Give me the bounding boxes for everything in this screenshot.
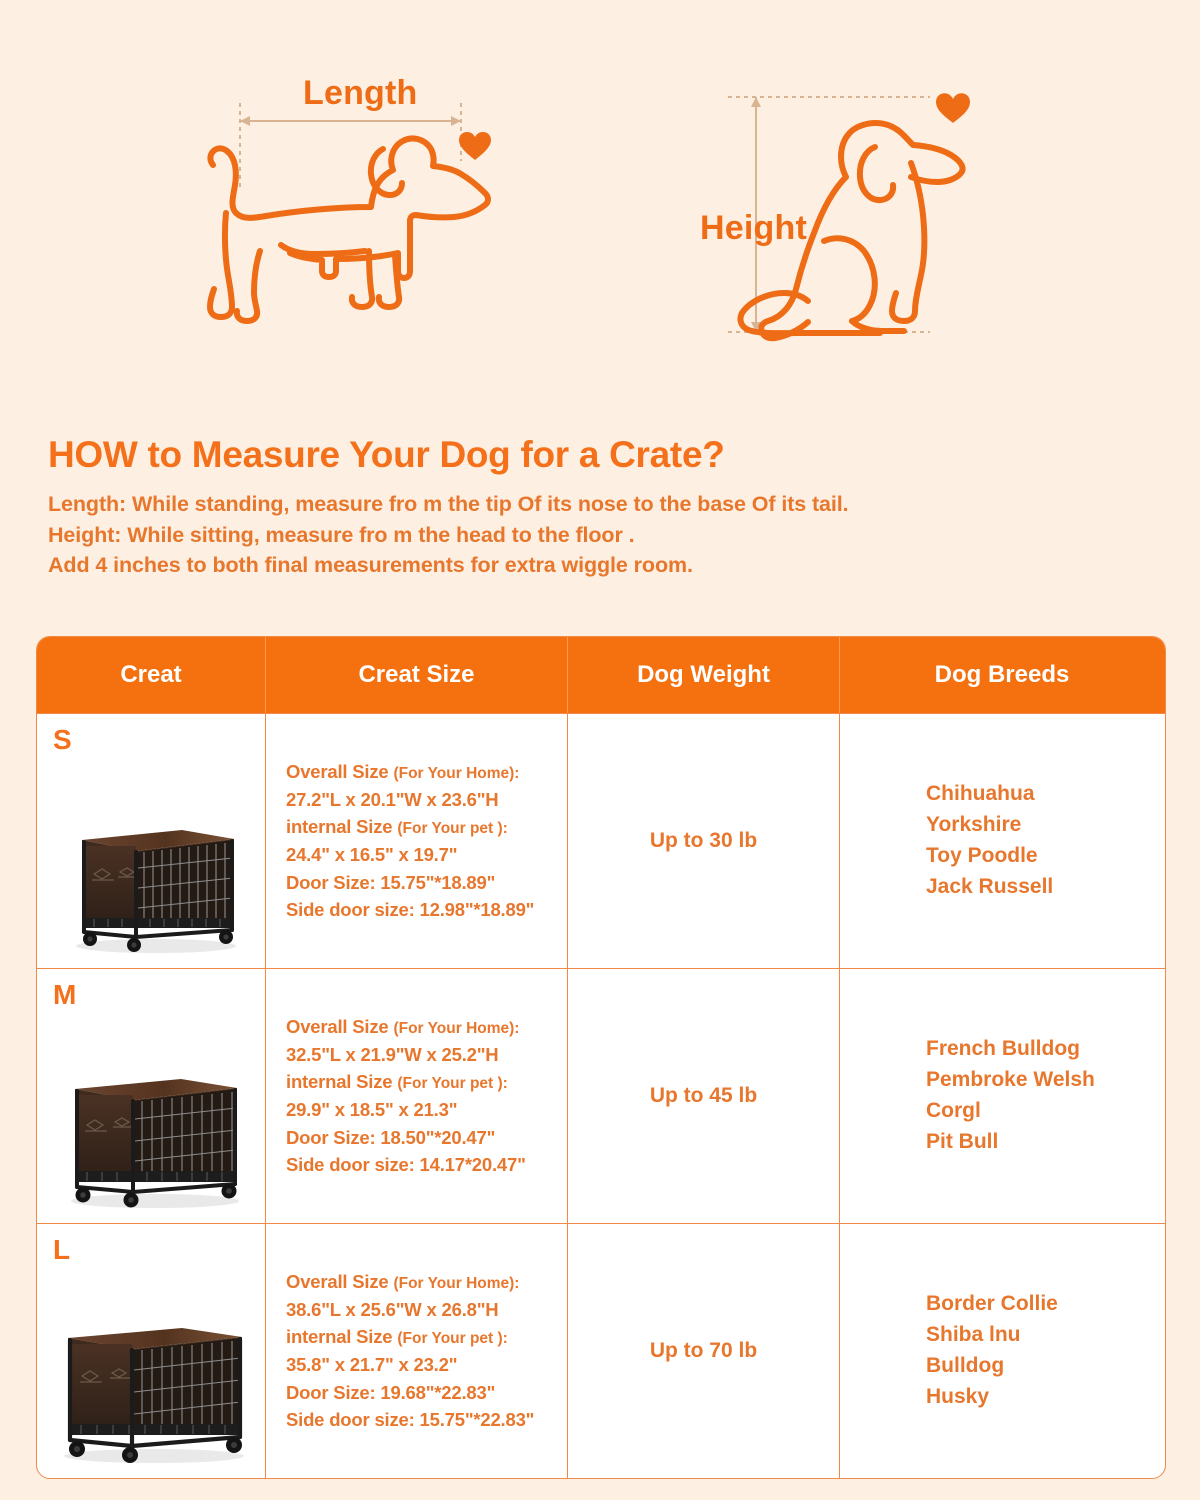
spec-overall-line: Overall Size (For Your Home):: [286, 758, 534, 786]
heart-icon: [936, 93, 970, 123]
table-row: M: [37, 968, 1165, 1223]
spec-overall-value: 32.5"L x 21.9"W x 25.2"H: [286, 1041, 526, 1069]
length-label: Length: [303, 74, 418, 113]
cell-weight-m: Up to 45 lb: [568, 969, 840, 1223]
breed-item: Shiba lnu: [926, 1320, 1058, 1351]
cell-breeds-s: Chihuahua Yorkshire Toy Poodle Jack Russ…: [840, 714, 1164, 968]
breed-item: Bulldog: [926, 1351, 1058, 1382]
spec-door-size: Door Size: 18.50"*20.47": [286, 1124, 526, 1152]
cell-size-s: S: [37, 714, 266, 968]
spec-internal-value: 29.9" x 18.5" x 21.3": [286, 1096, 526, 1124]
measurement-illustrations: Length Height: [0, 0, 1200, 400]
cell-weight-s: Up to 30 lb: [568, 714, 840, 968]
table-row: L: [37, 1223, 1165, 1478]
header-creat: Creat: [37, 637, 266, 713]
header-creat-size: Creat Size: [266, 637, 568, 713]
cell-weight-l: Up to 70 lb: [568, 1224, 840, 1478]
spec-overall-note: (For Your Home):: [393, 765, 519, 782]
breed-item: Chihuahua: [926, 779, 1053, 810]
header-dog-weight: Dog Weight: [568, 637, 840, 713]
breed-item: Corgl: [926, 1096, 1095, 1127]
spec-overall-note: (For Your Home):: [393, 1020, 519, 1037]
cell-spec-s: Overall Size (For Your Home): 27.2"L x 2…: [266, 714, 568, 968]
breed-list: Chihuahua Yorkshire Toy Poodle Jack Russ…: [926, 779, 1053, 902]
breed-list: Border Collie Shiba lnu Bulldog Husky: [926, 1289, 1058, 1412]
spec-side-door-size: Side door size: 14.17*20.47": [286, 1151, 526, 1179]
breed-list: French Bulldog Pembroke Welsh Corgl Pit …: [926, 1034, 1095, 1157]
spec-internal-note: (For Your pet ):: [397, 1330, 508, 1347]
spec-overall-label: Overall Size: [286, 1016, 389, 1037]
spec-internal-note: (For Your pet ):: [397, 1075, 508, 1092]
spec-internal-label: internal Size: [286, 1071, 392, 1092]
spec-internal-value: 35.8" x 21.7" x 23.2": [286, 1351, 534, 1379]
spec-overall-value: 27.2"L x 20.1"W x 23.6"H: [286, 786, 534, 814]
crate-illustration: [59, 1059, 249, 1211]
dog-crate-photo: [53, 760, 255, 956]
dog-weight-value: Up to 70 lb: [650, 1339, 757, 1363]
spec-overall-line: Overall Size (For Your Home):: [286, 1013, 526, 1041]
spec-door-size: Door Size: 15.75"*18.89": [286, 869, 534, 897]
cell-breeds-m: French Bulldog Pembroke Welsh Corgl Pit …: [840, 969, 1164, 1223]
cell-spec-l: Overall Size (For Your Home): 38.6"L x 2…: [266, 1224, 568, 1478]
spec-overall-value: 38.6"L x 25.6"W x 26.8"H: [286, 1296, 534, 1324]
cell-size-l: L: [37, 1224, 266, 1478]
spec-overall-line: Overall Size (For Your Home):: [286, 1268, 534, 1296]
breed-item: Border Collie: [926, 1289, 1058, 1320]
spec-internal-line: internal Size (For Your pet ):: [286, 813, 534, 841]
table-row: S: [37, 713, 1165, 968]
cell-size-m: M: [37, 969, 266, 1223]
breed-item: Pembroke Welsh: [926, 1065, 1095, 1096]
instruction-lines: Length: While standing, measure fro m th…: [48, 489, 1158, 581]
dog-weight-value: Up to 45 lb: [650, 1084, 757, 1108]
spec-overall-label: Overall Size: [286, 761, 389, 782]
spec-internal-label: internal Size: [286, 1326, 392, 1347]
dog-weight-value: Up to 30 lb: [650, 829, 757, 853]
cell-spec-m: Overall Size (For Your Home): 32.5"L x 2…: [266, 969, 568, 1223]
heart-icon: [459, 132, 491, 160]
spec-list: Overall Size (For Your Home): 27.2"L x 2…: [286, 758, 534, 923]
spec-list: Overall Size (For Your Home): 32.5"L x 2…: [286, 1013, 526, 1178]
spec-list: Overall Size (For Your Home): 38.6"L x 2…: [286, 1268, 534, 1433]
cell-breeds-l: Border Collie Shiba lnu Bulldog Husky: [840, 1224, 1164, 1478]
crate-illustration: [64, 806, 244, 956]
spec-internal-line: internal Size (For Your pet ):: [286, 1068, 526, 1096]
spec-side-door-size: Side door size: 15.75"*22.83": [286, 1406, 534, 1434]
breed-item: Husky: [926, 1382, 1058, 1413]
instructions-block: HOW to Measure Your Dog for a Crate? Len…: [48, 434, 1158, 581]
breed-item: French Bulldog: [926, 1034, 1095, 1065]
size-letter: M: [53, 981, 255, 1009]
instruction-line-length: Length: While standing, measure fro m th…: [48, 489, 1158, 520]
dog-crate-photo: [53, 1270, 255, 1466]
page-title: HOW to Measure Your Dog for a Crate?: [48, 434, 1158, 475]
spec-internal-line: internal Size (For Your pet ):: [286, 1323, 534, 1351]
spec-internal-label: internal Size: [286, 816, 392, 837]
breed-item: Toy Poodle: [926, 841, 1053, 872]
breed-item: Yorkshire: [926, 810, 1053, 841]
breed-item: Pit Bull: [926, 1127, 1095, 1158]
height-label: Height: [700, 209, 807, 248]
crate-size-table: Creat Creat Size Dog Weight Dog Breeds S: [36, 636, 1166, 1479]
spec-internal-note: (For Your pet ):: [397, 820, 508, 837]
spec-overall-label: Overall Size: [286, 1271, 389, 1292]
size-letter: L: [53, 1236, 255, 1264]
crate-illustration: [54, 1310, 254, 1466]
spec-door-size: Door Size: 19.68"*22.83": [286, 1379, 534, 1407]
instruction-line-wiggle: Add 4 inches to both final measurements …: [48, 550, 1158, 581]
spec-overall-note: (For Your Home):: [393, 1275, 519, 1292]
breed-item: Jack Russell: [926, 872, 1053, 903]
table-header-row: Creat Creat Size Dog Weight Dog Breeds: [37, 637, 1165, 713]
size-letter: S: [53, 726, 255, 754]
spec-internal-value: 24.4" x 16.5" x 19.7": [286, 841, 534, 869]
spec-side-door-size: Side door size: 12.98"*18.89": [286, 896, 534, 924]
dog-crate-photo: [53, 1015, 255, 1211]
instruction-line-height: Height: While sitting, measure fro m the…: [48, 520, 1158, 551]
header-dog-breeds: Dog Breeds: [840, 637, 1164, 713]
